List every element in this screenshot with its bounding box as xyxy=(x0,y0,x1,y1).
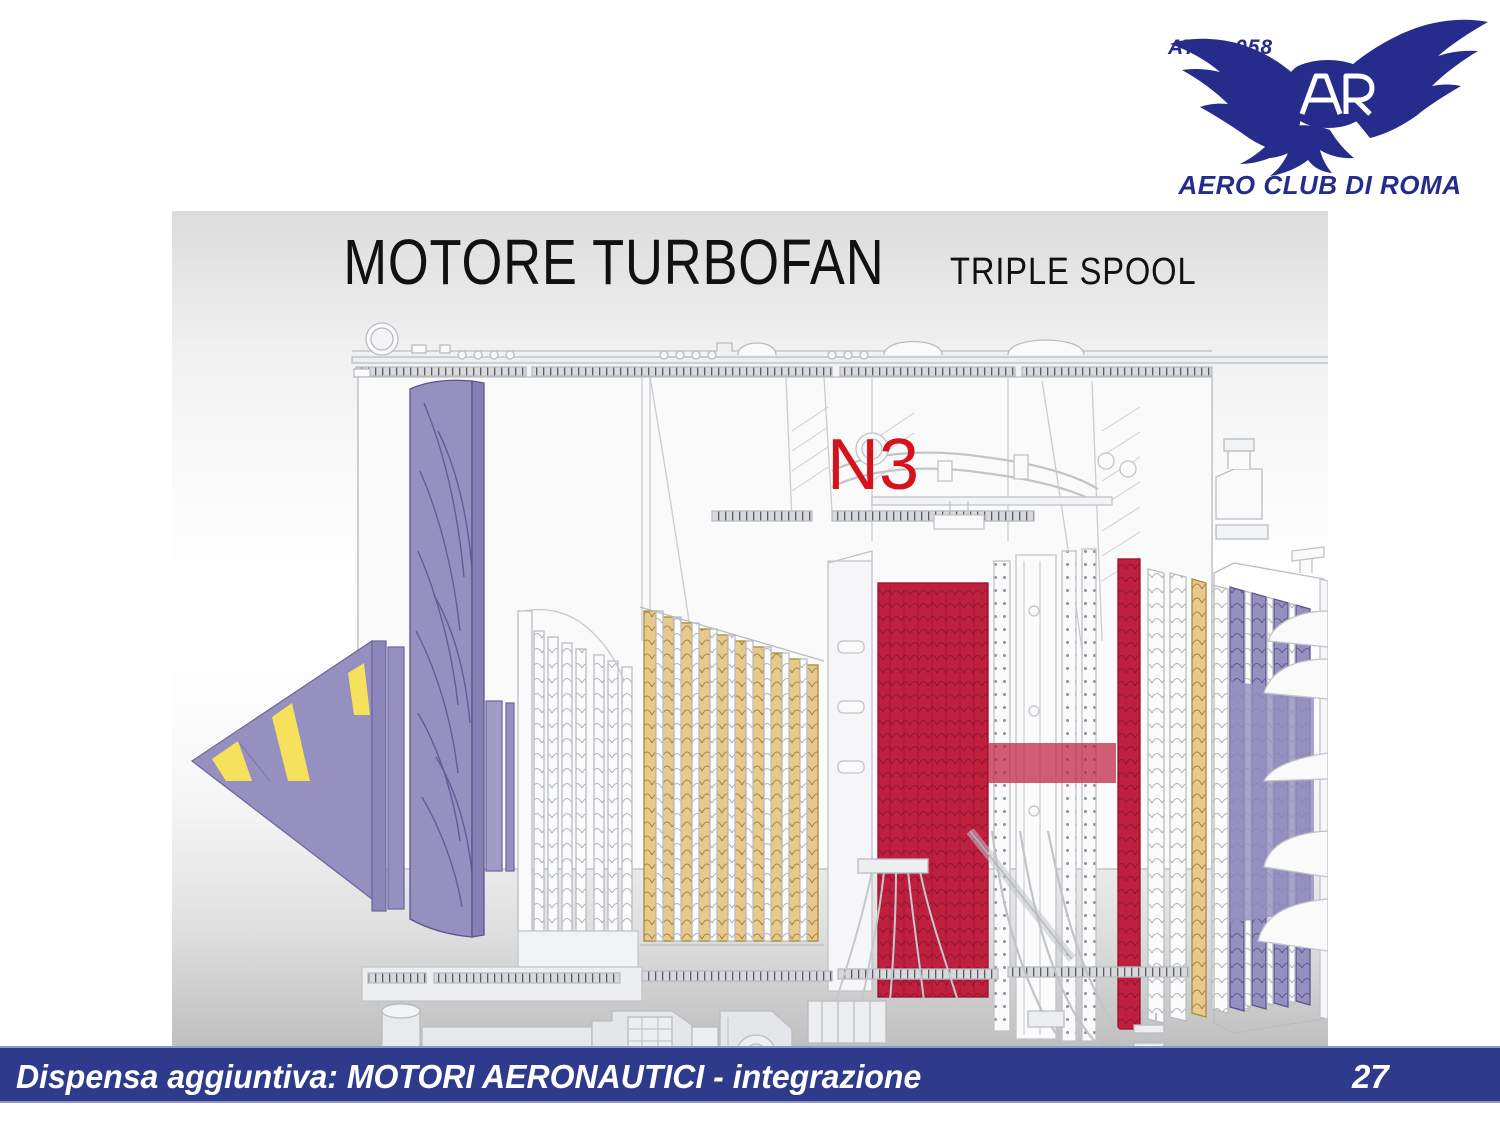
club-name-label: AERO CLUB DI ROMA xyxy=(1150,170,1490,201)
page-number: 27 xyxy=(1352,1058,1389,1096)
slide-title: MOTORE TURBOFANTRIPLE SPOOL xyxy=(172,225,1328,299)
slide-title-main: MOTORE TURBOFAN xyxy=(343,225,884,299)
turbofan-cutaway-diagram xyxy=(172,311,1328,1047)
slide-title-sub: TRIPLE SPOOL xyxy=(950,251,1196,294)
hp-spool-shaft xyxy=(988,743,1116,783)
n3-spool-label: N3 xyxy=(827,429,919,501)
mount-bracket xyxy=(1216,439,1268,539)
slide-image-area: MOTORE TURBOFANTRIPLE SPOOL xyxy=(172,211,1328,1047)
hp-turbine xyxy=(1118,559,1140,1029)
ato-code-label: ATO - 058 xyxy=(1168,36,1273,60)
nose-cone xyxy=(192,641,372,899)
aero-club-logo: ATO - 058 AERO CLUB DI ROMA xyxy=(1150,18,1490,208)
footer-title: Dispensa aggiuntiva: MOTORI AERONAUTICI … xyxy=(16,1058,921,1096)
footer-bar: Dispensa aggiuntiva: MOTORI AERONAUTICI … xyxy=(0,1046,1500,1103)
